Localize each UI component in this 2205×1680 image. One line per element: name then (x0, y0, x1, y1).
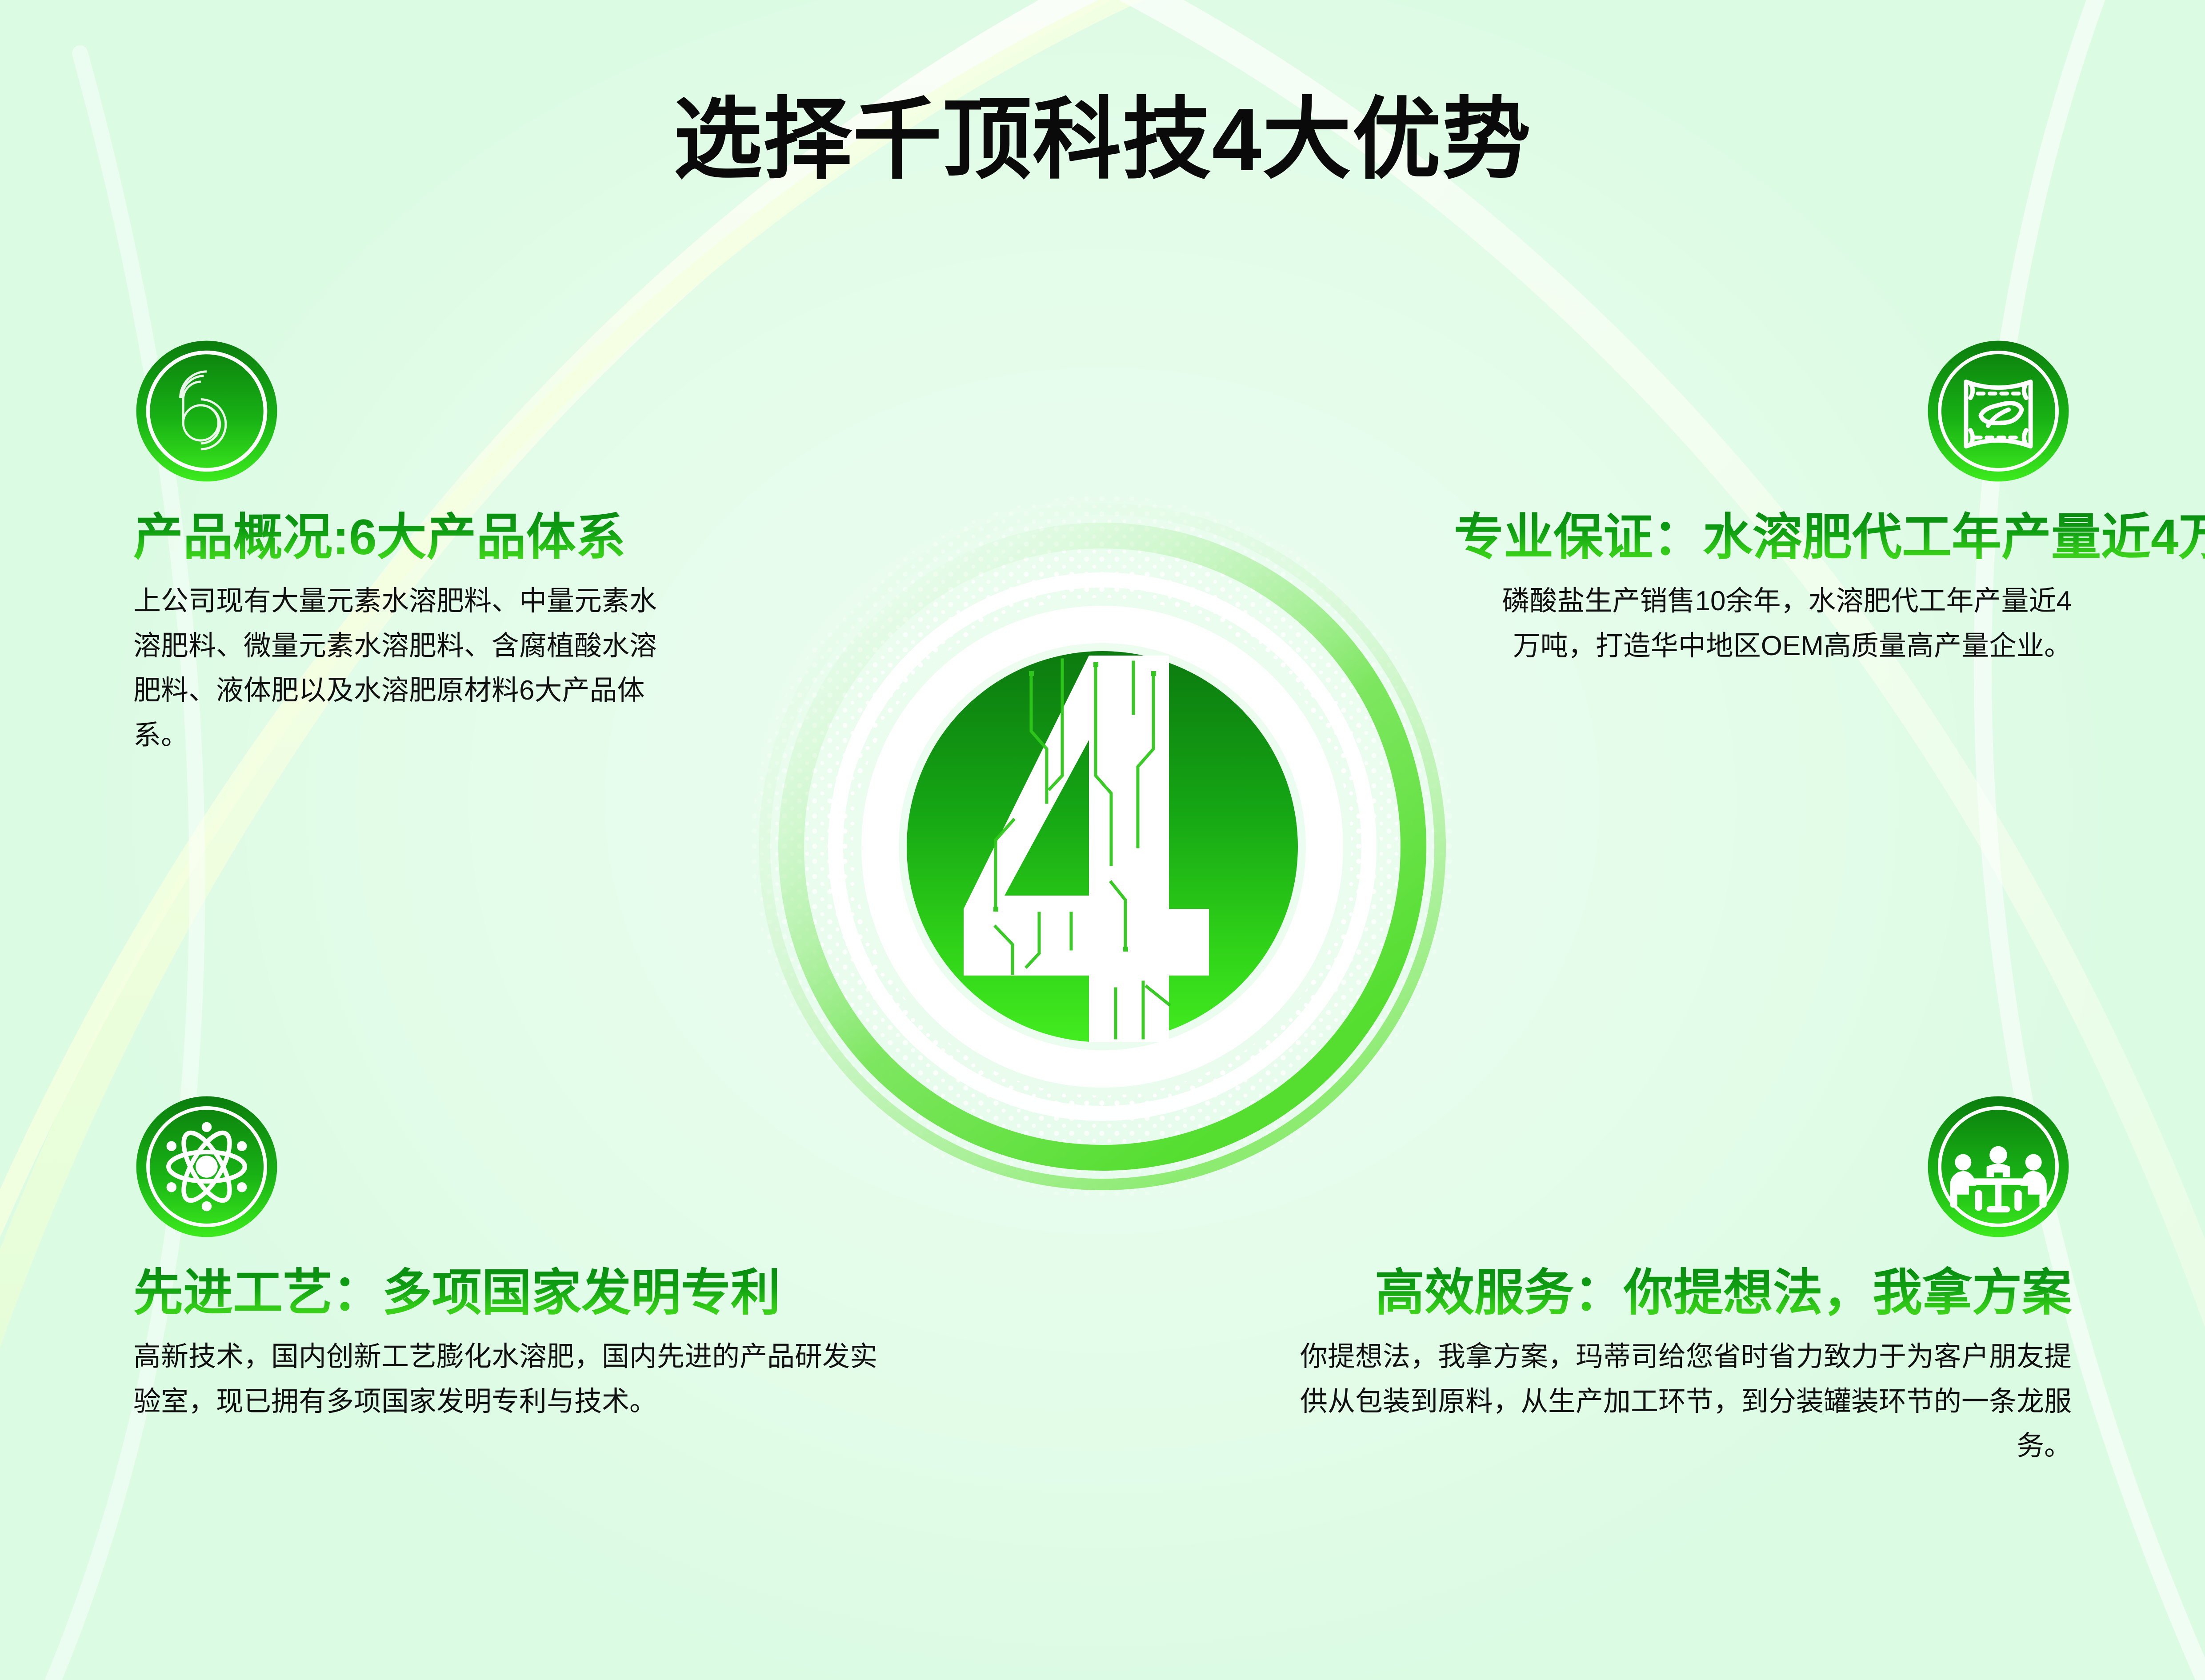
feature-block-bottom-right: 高效服务：你提想法，我拿方案 你提想法，我拿方案，玛蒂司给您省时省力致力于为客户… (1289, 1093, 2072, 1469)
meeting-table-icon (1925, 1093, 2072, 1240)
feature-body-bottom-right: 你提想法，我拿方案，玛蒂司给您省时省力致力于为客户朋友提供从包装到原料，从生产加… (1298, 1335, 2072, 1468)
feature-body-top-right: 磷酸盐生产销售10余年，水溶肥代工年产量近4万吨，打造华中地区OEM高质量高产量… (1481, 579, 2072, 668)
feature-heading-top-left: 产品概况:6大产品体系 (133, 509, 626, 565)
infographic-canvas: 选择千顶科技4大优势 (0, 0, 2205, 1680)
feature-body-bottom-left: 高新技术，国内创新工艺膨化水溶肥，国内先进的产品研发实验室，现已拥有多项国家发明… (133, 1335, 880, 1424)
feature-block-top-right: 专业保证：水溶肥代工年产量近4万吨 磷酸盐生产销售10余年，水溶肥代工年产量近4… (1454, 338, 2072, 668)
feature-body-top-left: 上公司现有大量元素水溶肥料、中量元素水溶肥料、微量元素水溶肥料、含腐植酸水溶肥料… (133, 579, 680, 758)
feature-heading-bottom-left: 先进工艺：多项国家发明专利 (133, 1265, 780, 1320)
feature-block-bottom-left: 先进工艺：多项国家发明专利 高新技术，国内创新工艺膨化水溶肥，国内先进的产品研发… (133, 1093, 889, 1424)
fertilizer-bag-icon (1925, 338, 2072, 484)
feature-block-top-left: 产品概况:6大产品体系 上公司现有大量元素水溶肥料、中量元素水溶肥料、微量元素水… (133, 338, 698, 758)
feature-heading-bottom-right: 高效服务：你提想法，我拿方案 (1375, 1265, 2072, 1320)
page-title: 选择千顶科技4大优势 (0, 93, 2205, 187)
atom-icon (133, 1093, 280, 1240)
feature-heading-top-right: 专业保证：水溶肥代工年产量近4万吨 (1454, 509, 2205, 565)
number-six-badge-icon (133, 338, 280, 484)
